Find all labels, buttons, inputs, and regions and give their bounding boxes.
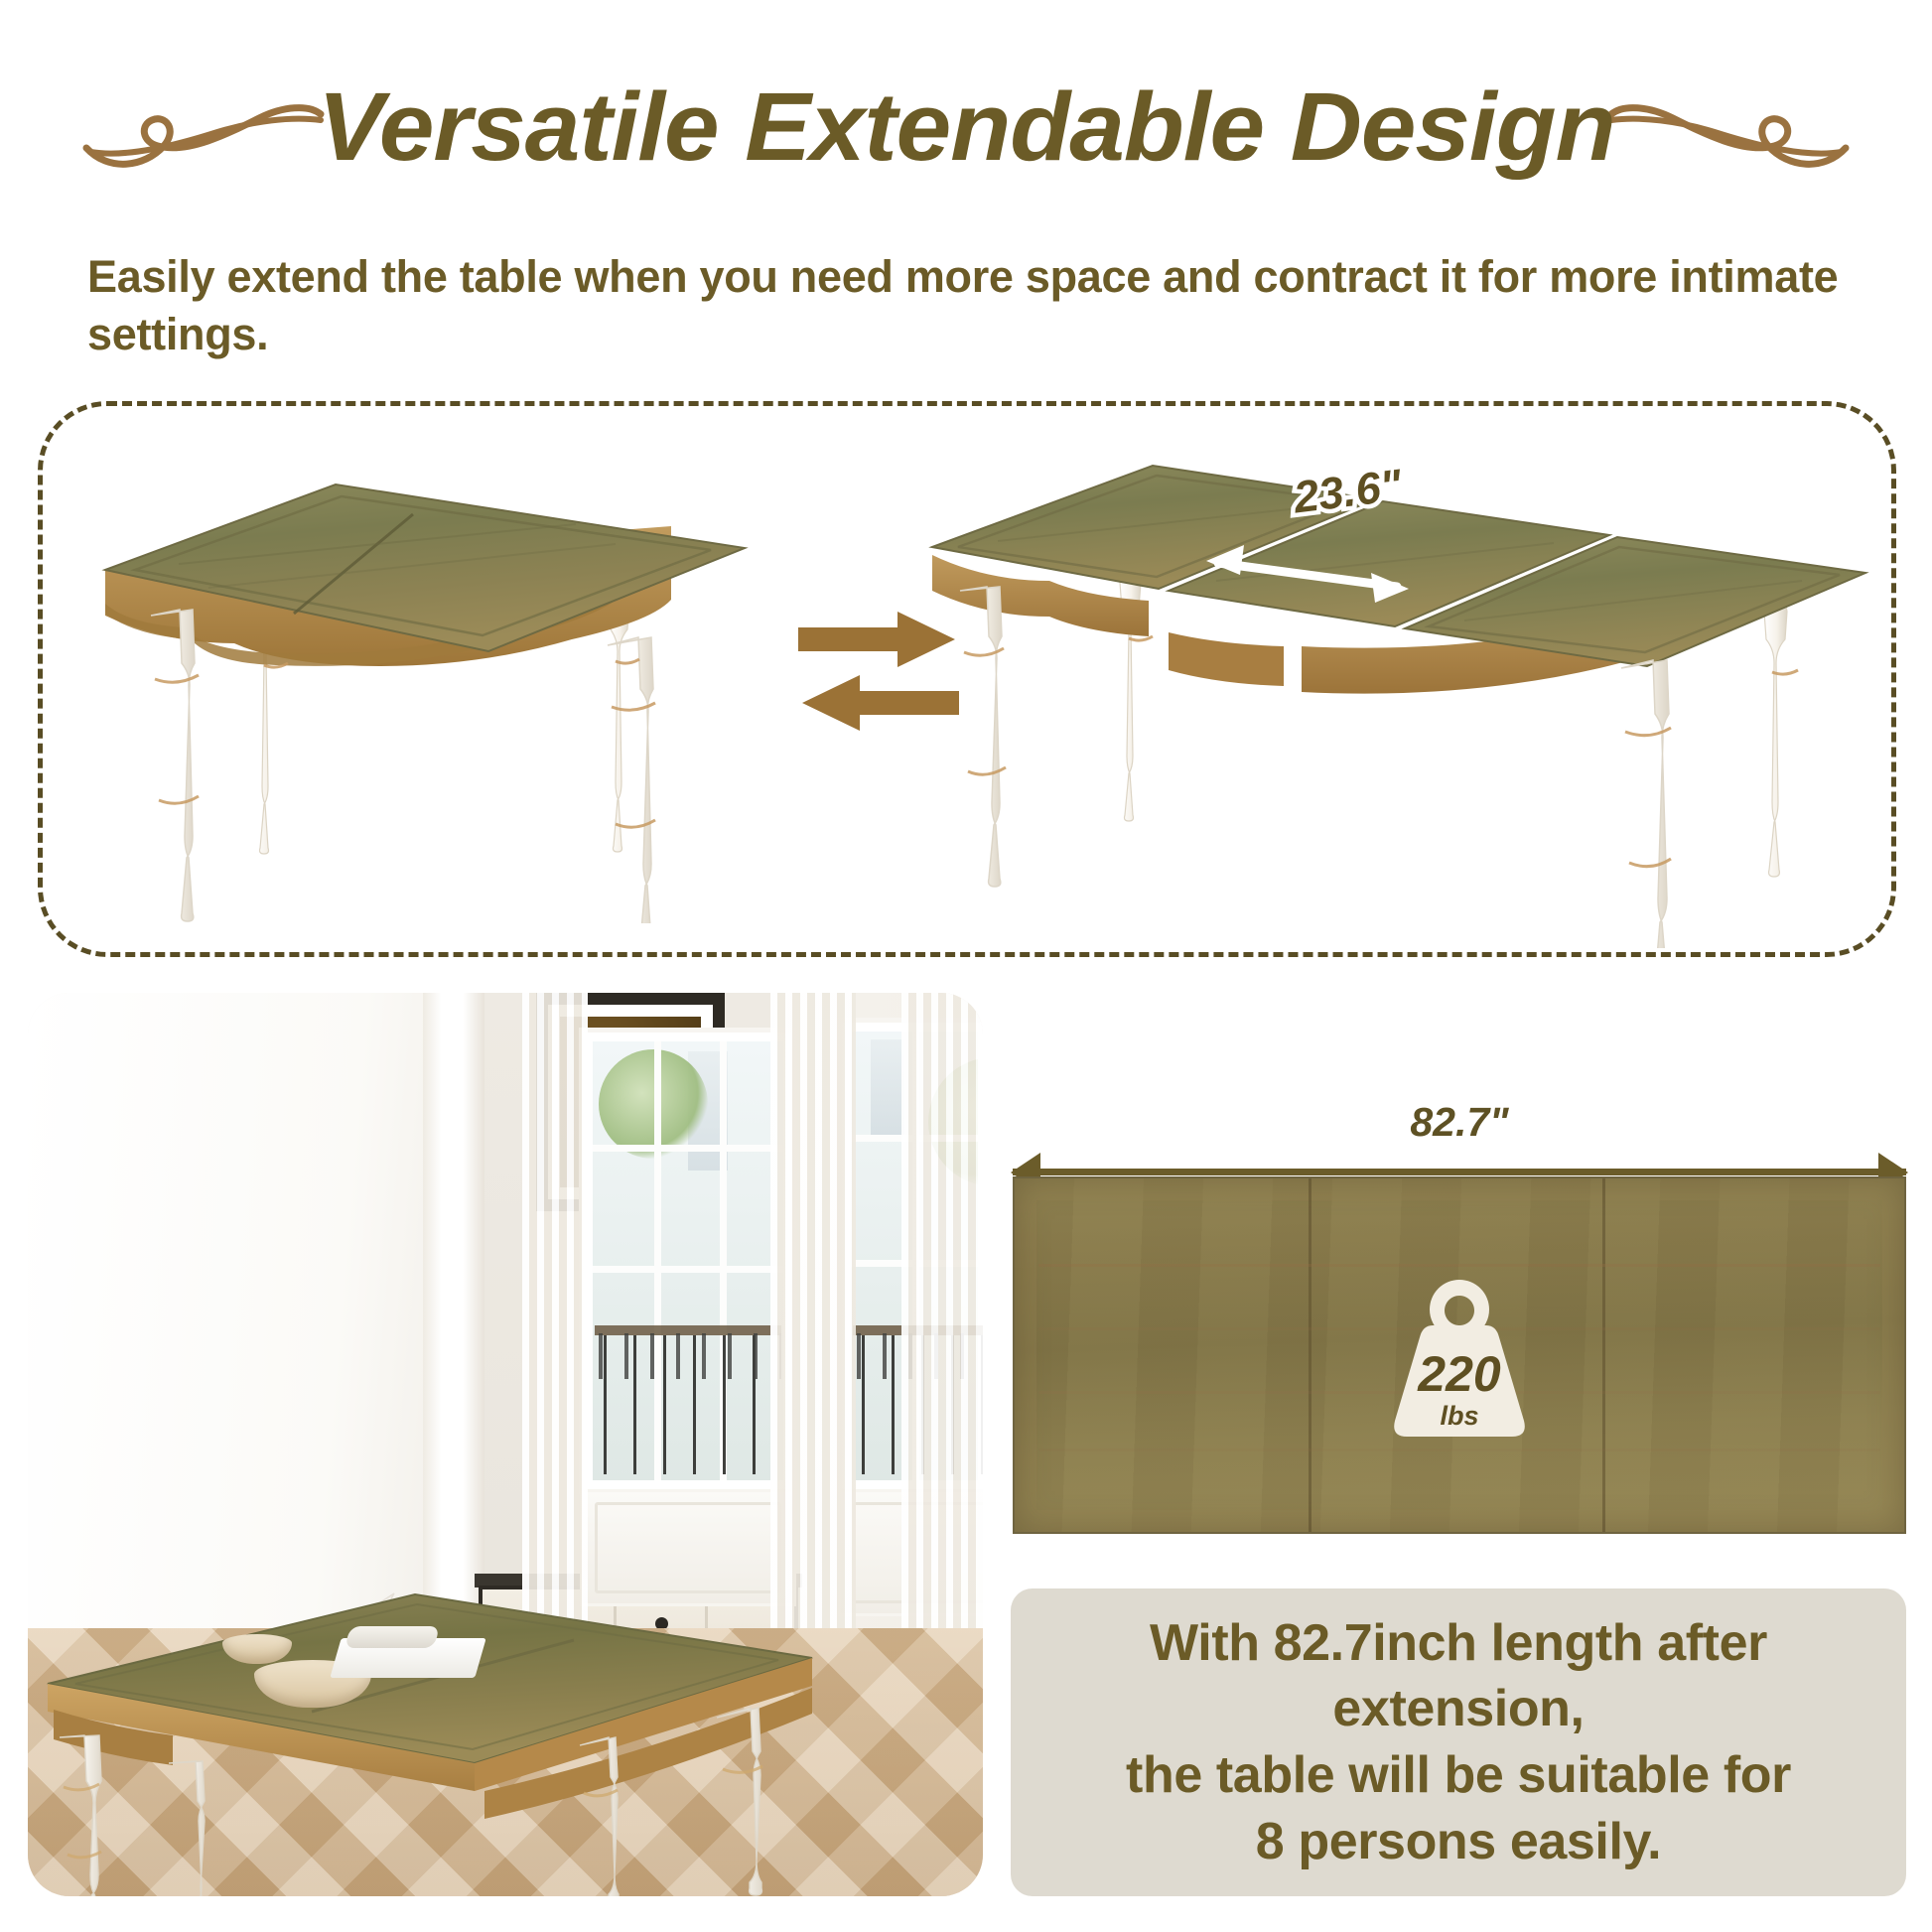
header-section: Versatile Extendable Design Easily exten… xyxy=(0,0,1932,377)
caption-line-1: With 82.7inch length after extension, xyxy=(1050,1610,1866,1742)
infographic-canvas: Versatile Extendable Design Easily exten… xyxy=(0,0,1932,1932)
sheer-curtain xyxy=(770,993,856,1648)
caption-text: With 82.7inch length after extension, th… xyxy=(1011,1610,1906,1874)
dimension-line xyxy=(1013,1169,1906,1175)
rolled-napkin xyxy=(345,1626,440,1648)
weight-value: 220 xyxy=(1417,1346,1501,1402)
sheer-curtain xyxy=(522,993,588,1638)
caption-line-2: the table will be suitable for xyxy=(1050,1742,1866,1809)
flourish-right-icon xyxy=(1605,76,1854,177)
sheer-curtain xyxy=(901,993,983,1688)
flourish-left-icon xyxy=(78,76,327,177)
table-contracted-illustration xyxy=(60,467,755,923)
table-extended-illustration: 23.6" xyxy=(908,452,1891,948)
weight-unit: lbs xyxy=(1440,1401,1478,1431)
wrought-iron-balcony xyxy=(595,1325,781,1474)
leaf-seam xyxy=(1602,1178,1605,1532)
room-photo xyxy=(28,993,983,1896)
title-row: Versatile Extendable Design xyxy=(0,71,1932,181)
leaf-seam xyxy=(1309,1178,1311,1532)
caption-line-3: 8 persons easily. xyxy=(1050,1809,1866,1875)
subtitle-text: Easily extend the table when you need mo… xyxy=(87,248,1864,362)
caption-box: With 82.7inch length after extension, th… xyxy=(1011,1588,1906,1896)
page-title: Versatile Extendable Design xyxy=(318,78,1615,175)
length-label: 82.7" xyxy=(1013,1099,1906,1146)
french-window xyxy=(584,1033,792,1489)
weight-capacity-badge: 220 lbs xyxy=(1385,1274,1534,1445)
